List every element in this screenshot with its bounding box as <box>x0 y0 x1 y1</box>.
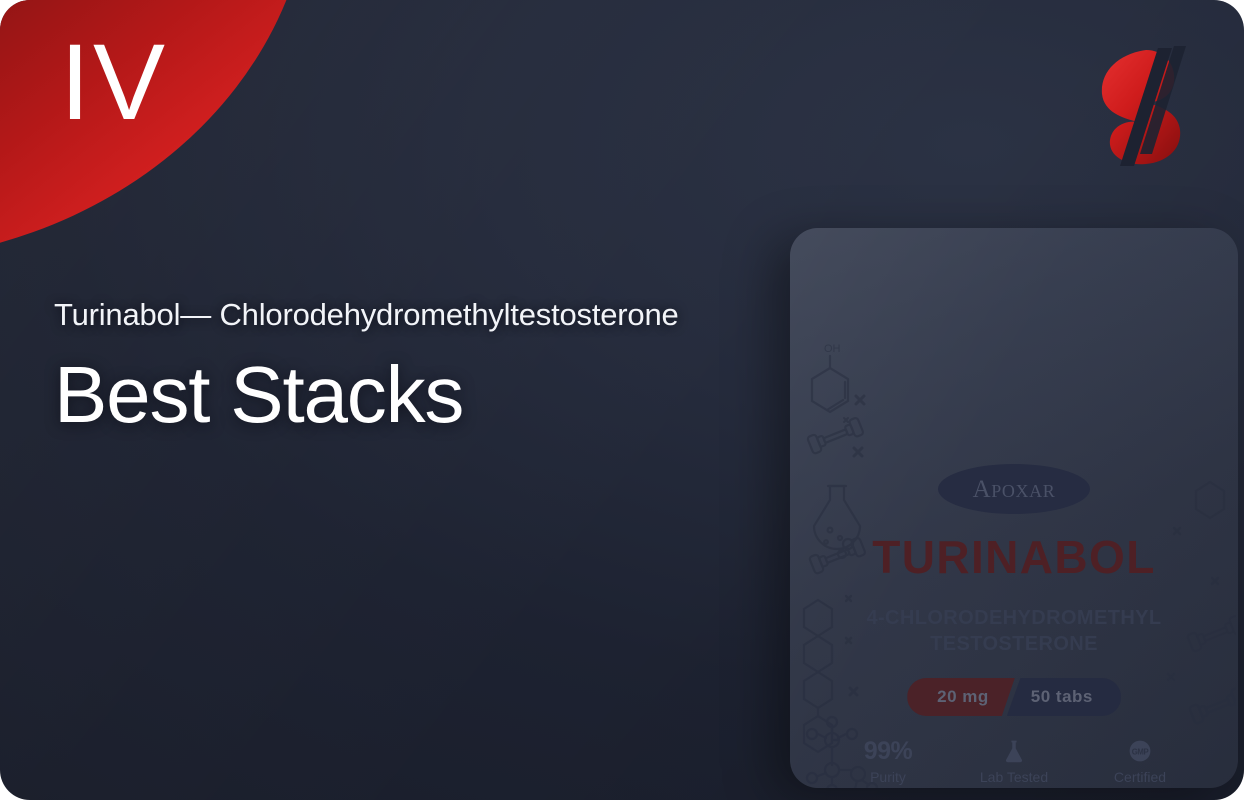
dose-count: 50 tabs <box>1007 678 1121 716</box>
trust-badge-certified: GMP Certified <box>1101 736 1179 785</box>
product-compound: 4-CHLORODEHYDROMETHYL TESTOSTERONE <box>824 606 1204 657</box>
corner-badge-label: IV <box>60 28 168 136</box>
lightning-s-logo-icon <box>1082 44 1204 170</box>
product-card: OH <box>790 228 1238 788</box>
corner-badge: IV <box>0 0 312 262</box>
trust-badge-row: 99% Purity Lab Tested GMP Cert <box>849 736 1179 785</box>
banner-subtitle: Turinabol— Chlorodehydromethyltestostero… <box>54 296 679 333</box>
purity-percent-icon: 99% <box>849 736 927 766</box>
trust-badge-lab-tested: Lab Tested <box>975 736 1053 785</box>
promo-banner: IV Turinabol— Chlorodehydromethyltestost… <box>0 0 1244 800</box>
gmp-seal-icon: GMP <box>1101 736 1179 766</box>
trust-badge-certified-label: Certified <box>1101 769 1179 785</box>
dose-row: 20 mg 50 tabs <box>907 678 1121 716</box>
product-name: TURINABOL <box>790 530 1238 584</box>
brand-badge: Apoxar <box>938 464 1090 514</box>
svg-text:OH: OH <box>824 343 841 355</box>
dose-strength: 20 mg <box>907 678 1015 716</box>
flask-icon <box>975 736 1053 766</box>
trust-badge-lab-tested-label: Lab Tested <box>975 769 1053 785</box>
headline-block: Turinabol— Chlorodehydromethyltestostero… <box>54 296 679 437</box>
svg-text:GMP: GMP <box>1132 747 1149 756</box>
brand-name: Apoxar <box>973 477 1056 502</box>
trust-badge-purity: 99% Purity <box>849 736 927 785</box>
banner-title: Best Stacks <box>54 353 679 437</box>
trust-badge-purity-label: Purity <box>849 769 927 785</box>
